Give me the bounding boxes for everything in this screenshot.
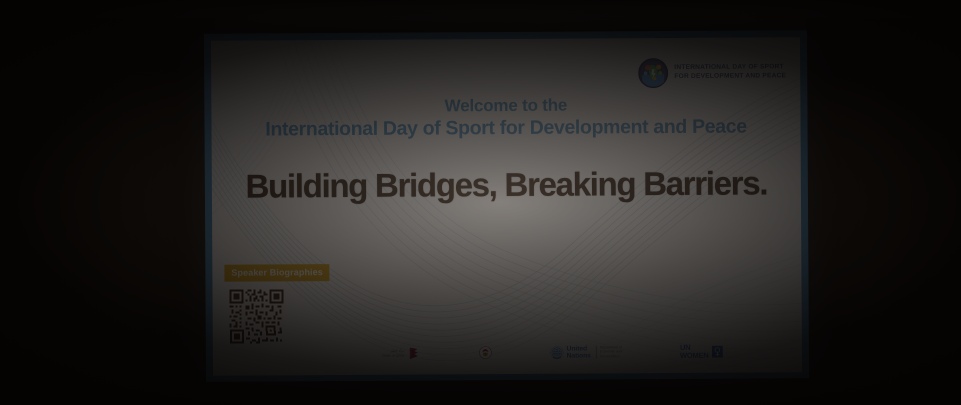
slide-blue-border-frame: INTERNATIONAL DAY OF SPORT FOR DEVELOPME… xyxy=(204,30,809,382)
un-women-wordmark: UN WOMEN xyxy=(680,344,709,359)
header-logo-wordmark: INTERNATIONAL DAY OF SPORT FOR DEVELOPME… xyxy=(674,64,786,82)
un-wordmark-line-2: Nations xyxy=(567,352,591,359)
presentation-slide: INTERNATIONAL DAY OF SPORT FOR DEVELOPME… xyxy=(211,37,802,376)
un-desa-department-label: Department of Economic and Social Affair… xyxy=(596,345,622,359)
theme-headline: Building Bridges, Breaking Barriers. xyxy=(212,164,801,206)
projection-room-scene: INTERNATIONAL DAY OF SPORT FOR DEVELOPME… xyxy=(0,0,961,405)
speaker-biographies-badge[interactable]: Speaker Biographies xyxy=(224,264,330,282)
partner-state-of-qatar: دولة قطر State of Qatar xyxy=(382,346,420,360)
partner-united-nations-desa: United Nations Department of Economic an… xyxy=(550,345,623,360)
state-of-qatar-english: State of Qatar xyxy=(382,353,404,358)
header-logo: INTERNATIONAL DAY OF SPORT FOR DEVELOPME… xyxy=(638,57,786,88)
speaker-biographies-qr-code-icon[interactable] xyxy=(227,287,285,345)
partner-logos-row: دولة قطر State of Qatar xyxy=(213,344,802,362)
dark-surround-right xyxy=(806,18,961,405)
welcome-line-2: International Day of Sport for Developme… xyxy=(211,114,800,143)
state-of-qatar-wordmark: دولة قطر State of Qatar xyxy=(382,349,404,358)
partner-un-women: UN WOMEN xyxy=(680,344,723,359)
united-nations-wordmark: United Nations xyxy=(567,345,591,359)
speaker-biographies-block: Speaker Biographies xyxy=(224,262,330,346)
international-day-of-sport-emblem-icon xyxy=(638,58,668,88)
united-nations-emblem-icon xyxy=(550,345,564,359)
un-desa-line-3: Social Affairs xyxy=(600,354,622,359)
un-women-symbol-icon xyxy=(712,345,723,357)
qatar-national-emblem-icon xyxy=(479,346,492,359)
state-of-qatar-flag-icon xyxy=(408,346,421,360)
partner-qatar-national-emblem xyxy=(479,346,492,359)
welcome-heading: Welcome to the International Day of Spor… xyxy=(211,93,800,143)
un-women-line-2: WOMEN xyxy=(680,351,709,359)
dark-surround-left xyxy=(0,18,215,405)
header-logo-line-2: FOR DEVELOPMENT AND PEACE xyxy=(674,72,786,81)
